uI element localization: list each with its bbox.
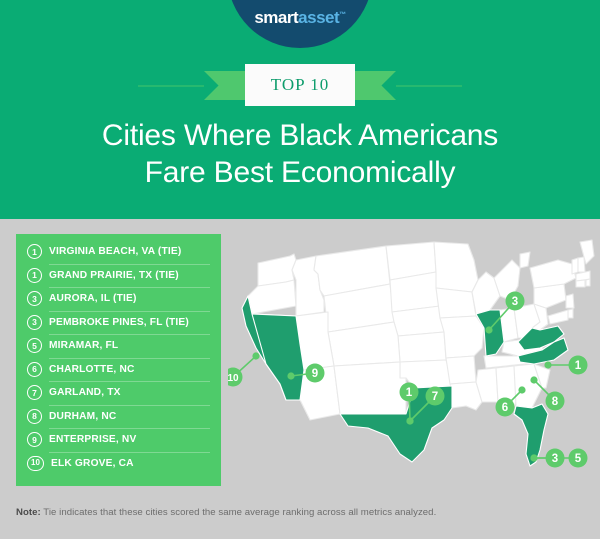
top-ribbon: TOP 10 [0, 64, 600, 106]
state-MD [548, 310, 568, 324]
state-KS [398, 332, 446, 362]
state-RI [586, 279, 590, 286]
list-item-label: AURORA, IL (TIE) [49, 293, 137, 304]
map-anchor-dot [252, 352, 259, 359]
rank-badge: 7 [27, 385, 42, 400]
us-map: 31861735910 [228, 238, 596, 490]
list-item[interactable]: 3PEMBROKE PINES, FL (TIE) [16, 311, 221, 335]
list-item-label: ENTERPRISE, NV [49, 434, 136, 445]
map-anchor-dot [530, 376, 537, 383]
map-marker-8[interactable]: 8 [546, 392, 565, 411]
rank-badge: 3 [27, 315, 42, 330]
infographic-page: smartasset™ TOP 10 Cities Where Black Am… [0, 0, 600, 539]
list-item[interactable]: 1GRAND PRAIRIE, TX (TIE) [16, 264, 221, 288]
rank-badge: 3 [27, 291, 42, 306]
map-anchor-dot [485, 326, 492, 333]
state-IA [436, 288, 476, 318]
map-marker-rank: 7 [432, 391, 438, 403]
ribbon-rule-left [138, 85, 204, 87]
map-anchor-dot [287, 372, 294, 379]
map-marker-rank: 1 [406, 387, 413, 399]
state-VT [572, 258, 578, 274]
state-NH [578, 257, 585, 272]
footnote-prefix: Note: [16, 507, 41, 518]
map-anchor-dot [406, 417, 413, 424]
state-NM [334, 362, 406, 414]
list-item[interactable]: 7GARLAND, TX [16, 381, 221, 405]
footer: Note: Tie indicates that these cities sc… [0, 497, 600, 539]
list-item[interactable]: 10ELK GROVE, CA [16, 452, 221, 476]
map-anchor-dot [530, 454, 537, 461]
map-marker-rank: 6 [502, 402, 508, 414]
map-marker-rank: 10 [228, 373, 239, 384]
footnote: Note: Tie indicates that these cities sc… [16, 507, 436, 518]
list-item-label: MIRAMAR, FL [49, 340, 118, 351]
map-marker-3[interactable]: 3 [506, 292, 525, 311]
map-marker-rank: 3 [552, 453, 558, 465]
list-item-label: DURHAM, NC [49, 411, 116, 422]
state-DE [568, 309, 573, 318]
list-item-label: PEMBROKE PINES, FL (TIE) [49, 317, 189, 328]
ribbon-plate: TOP 10 [245, 64, 355, 106]
rank-badge: 8 [27, 409, 42, 424]
map-marker-rank: 9 [312, 368, 318, 380]
map-marker-rank: 5 [575, 453, 582, 465]
logo-wordmark: smartasset™ [228, 9, 373, 26]
list-item[interactable]: 3AURORA, IL (TIE) [16, 287, 221, 311]
map-marker-3[interactable]: 3 [546, 449, 565, 468]
smartasset-logo: smartasset™ [228, 0, 373, 48]
map-marker-9[interactable]: 9 [306, 364, 325, 383]
map-marker-5[interactable]: 5 [569, 449, 588, 468]
map-anchor-dot [544, 361, 551, 368]
state-NJ [566, 294, 574, 308]
map-marker-rank: 1 [575, 360, 582, 372]
list-item-label: ELK GROVE, CA [51, 458, 134, 469]
map-marker-1[interactable]: 1 [569, 356, 588, 375]
ribbon-rule-right [396, 85, 462, 87]
map-anchor-dot [518, 386, 525, 393]
list-item[interactable]: 9ENTERPRISE, NV [16, 428, 221, 452]
rank-badge: 5 [27, 338, 42, 353]
page-title-line2: Fare Best Economically [0, 155, 600, 192]
list-item[interactable]: 6CHARLOTTE, NC [16, 358, 221, 382]
map-marker-1[interactable]: 1 [400, 383, 419, 402]
state-AR [446, 356, 476, 384]
map-marker-7[interactable]: 7 [426, 387, 445, 406]
list-item-label: GRAND PRAIRIE, TX (TIE) [49, 270, 179, 281]
state-NY [530, 260, 576, 288]
state-MO [440, 316, 484, 358]
rank-badge: 1 [27, 244, 42, 259]
footnote-text: Tie indicates that these cities scored t… [41, 507, 437, 518]
list-item[interactable]: 5MIRAMAR, FL [16, 334, 221, 358]
rank-badge: 10 [27, 456, 44, 471]
list-item[interactable]: 8DURHAM, NC [16, 405, 221, 429]
list-item-label: CHARLOTTE, NC [49, 364, 135, 375]
map-marker-rank: 3 [512, 296, 518, 308]
ribbon-label: TOP 10 [271, 75, 329, 95]
logo-smart-text: smart [254, 8, 298, 27]
map-marker-6[interactable]: 6 [496, 398, 515, 417]
trademark-icon: ™ [339, 11, 346, 18]
state-NE [392, 306, 444, 336]
list-item[interactable]: 1VIRGINIA BEACH, VA (TIE) [16, 240, 221, 264]
rank-badge: 1 [27, 268, 42, 283]
state-CT [576, 280, 585, 287]
rank-badge: 9 [27, 432, 42, 447]
logo-asset-text: asset [298, 8, 339, 27]
header-banner: smartasset™ TOP 10 Cities Where Black Am… [0, 0, 600, 219]
state-MN [434, 242, 478, 292]
list-item-label: VIRGINIA BEACH, VA (TIE) [49, 246, 181, 257]
page-title: Cities Where Black Americans Fare Best E… [0, 118, 600, 191]
ranked-city-list: 1VIRGINIA BEACH, VA (TIE)1GRAND PRAIRIE,… [16, 234, 221, 486]
list-item-label: GARLAND, TX [49, 387, 121, 398]
page-title-line1: Cities Where Black Americans [102, 119, 498, 152]
map-marker-rank: 8 [552, 396, 559, 408]
rank-badge: 6 [27, 362, 42, 377]
